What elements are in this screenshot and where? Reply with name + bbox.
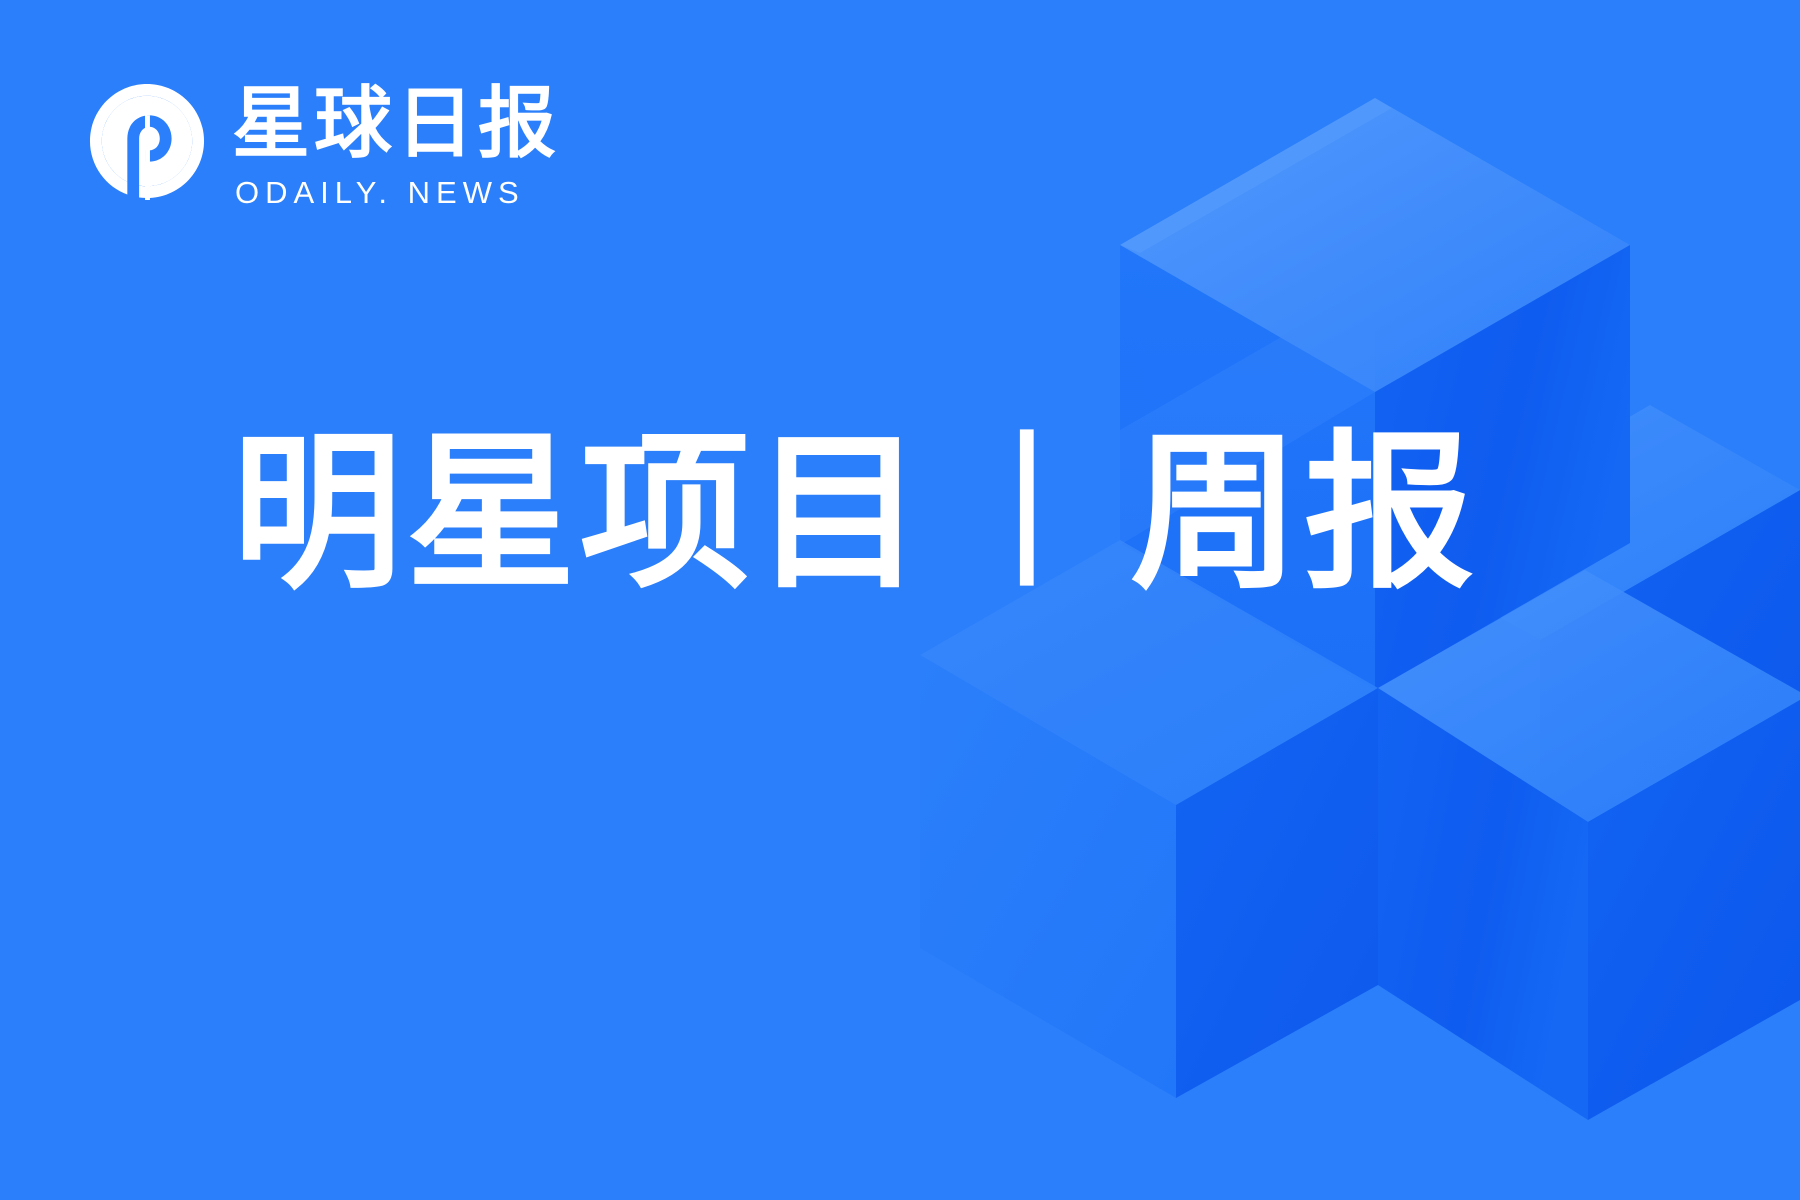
logo-brand-cn: 星球日报 bbox=[232, 80, 560, 166]
odaily-logo[interactable]: 星球日报 ODAILY. NEWS bbox=[88, 78, 560, 208]
logo-text-block: 星球日报 ODAILY. NEWS bbox=[232, 78, 560, 208]
logo-brand-en: ODAILY. NEWS bbox=[235, 177, 560, 208]
headline-left: 明星项目 bbox=[232, 419, 928, 609]
odaily-p-mark-icon bbox=[88, 82, 206, 200]
odaily-weekly-report-banner: 星球日报 ODAILY. NEWS 明星项目丨周报 bbox=[0, 0, 1800, 1200]
headline-right: 周报 bbox=[1130, 419, 1478, 609]
cube-lower-right bbox=[1378, 570, 1800, 1120]
page-title: 明星项目丨周报 bbox=[232, 425, 1478, 604]
cube-lower-left bbox=[920, 245, 1378, 1098]
cube-highlight-sliver bbox=[1120, 98, 1392, 253]
headline-separator: 丨 bbox=[928, 425, 1130, 604]
